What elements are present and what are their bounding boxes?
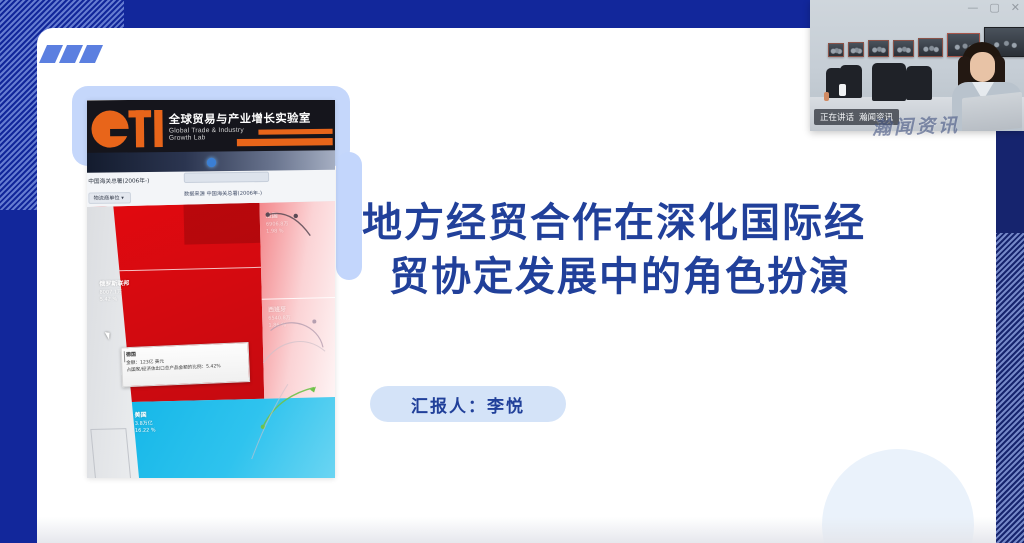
decor-slashes [43,45,105,63]
lab-name-cn: 全球贸易与产业增长实验室 [169,112,311,125]
app-filter-pill: 物流商单位 ▾ [88,192,131,204]
presenter-badge: 汇报人：李悦 [370,386,566,422]
title-line-1: 地方经贸合作在深化国际经 [362,196,962,250]
app-header-label: 中国海关总署(2006年-) [88,176,149,185]
card-backdrop-side [336,152,362,280]
flow-curve-overlay [87,201,335,478]
presenter-label: 汇报人：李悦 [411,392,525,417]
treemap-chart: 俄罗斯联邦 8007.1万 5.42 % 法国 6906.8万 1.98 % 西… [87,201,335,478]
laptop [962,92,1022,131]
picture-frame [918,38,943,57]
app-breadcrumb: 数据来源 中国海关总署(2006年-) [184,189,262,197]
office-chair [872,63,906,101]
title-line-2: 贸协定发展中的角色扮演 [362,250,962,304]
picture-frame [893,40,914,57]
watermark-text: 瀚闻资讯 [872,110,961,140]
gti-logo-icon [89,108,166,150]
speaking-status-text: 正在讲话 [820,111,854,123]
office-chair [906,66,932,100]
app-loading-dot-icon [207,158,216,167]
window-controls[interactable]: — ▢ ✕ [967,2,1020,13]
picture-frame [868,40,889,57]
logo-accent-bar-1 [258,129,332,135]
slash-shape-3 [79,45,103,63]
slide-bottom-shadow [37,517,996,543]
app-search-input [184,172,269,183]
logo-accent-bar-2 [237,138,333,146]
chart-tooltip: 德国 金额：123亿 美元 占国家/经济体出口总产品金额的比例：5.42% [121,342,251,387]
picture-frame [828,43,844,57]
minimize-icon[interactable]: — [967,2,978,13]
gti-logo-banner: 全球贸易与产业增长实验室 Global Trade & Industry Gro… [87,100,335,158]
page-title: 地方经贸合作在深化国际经 贸协定发展中的角色扮演 [362,196,962,304]
presentation-screen: 全球贸易与产业增长实验室 Global Trade & Industry Gro… [0,0,1024,543]
water-cup [839,84,846,96]
screenshot-photo: 全球贸易与产业增长实验室 Global Trade & Industry Gro… [87,100,335,478]
picture-frame [848,42,864,57]
maximize-icon[interactable]: ▢ [989,2,999,13]
close-icon[interactable]: ✕ [1011,2,1020,13]
water-cup [824,92,829,101]
photo-card-group: 全球贸易与产业增长实验室 Global Trade & Industry Gro… [72,86,362,494]
